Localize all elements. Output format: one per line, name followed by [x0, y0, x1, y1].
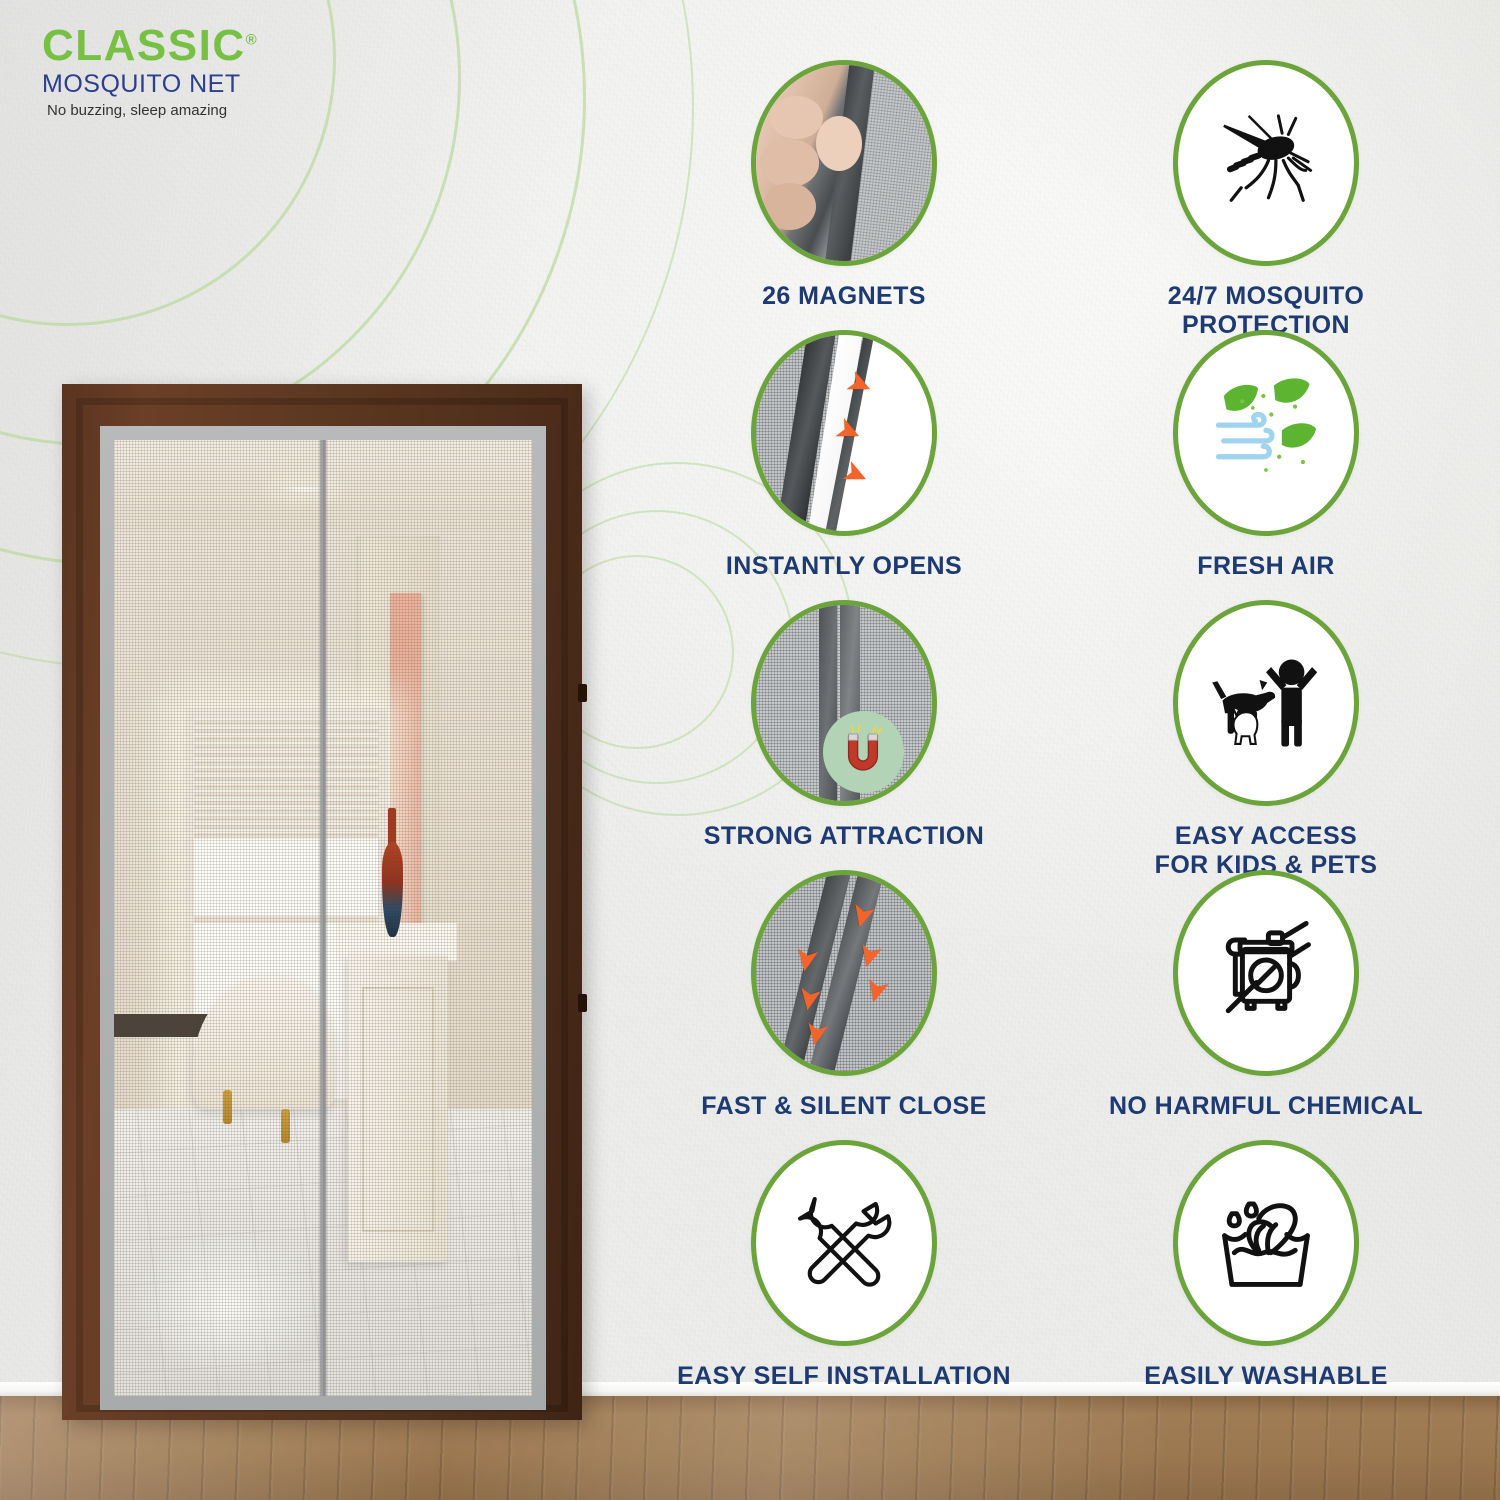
- fresh-air-glyph: [1200, 367, 1332, 499]
- feature-easy-self-installation[interactable]: EASY SELF INSTALLATION: [640, 1140, 1048, 1410]
- closing-net-photo-fill: ➤ ➤ ➤ ➤ ➤ ➤: [756, 875, 932, 1071]
- magnet-badge-circle: [823, 711, 904, 793]
- feature-grid: 26 MAGNETS: [640, 60, 1470, 1410]
- feature-fresh-air[interactable]: FRESH AIR: [1062, 330, 1470, 600]
- feature-label: STRONG ATTRACTION: [704, 822, 984, 851]
- no-chemical-glyph: [1207, 914, 1325, 1032]
- thumb: [816, 116, 862, 171]
- feature-label: NO HARMFUL CHEMICAL: [1109, 1092, 1423, 1121]
- wrench-and-screwdriver-icon: [751, 1140, 937, 1346]
- feature-strong-attraction[interactable]: STRONG ATTRACTION: [640, 600, 1048, 870]
- hand-wash-basin-icon: [1173, 1140, 1359, 1346]
- horseshoe-magnet-glyph: [836, 725, 890, 779]
- product-door-photo: [62, 384, 582, 1420]
- close-arrow-5: ➤: [794, 985, 826, 1013]
- close-arrow-6: ➤: [801, 1020, 833, 1048]
- brand-logo: CLASSIC® MOSQUITO NET No buzzing, sleep …: [42, 24, 372, 119]
- net-border-strip: [100, 426, 546, 1410]
- brand-tagline: No buzzing, sleep amazing: [47, 102, 372, 119]
- hand-wash-glyph: [1205, 1182, 1327, 1304]
- net-opening-arrows-photo: ➤ ➤ ➤: [751, 330, 937, 536]
- no-chemical-sprayer-icon: [1173, 870, 1359, 1076]
- net-photo-fill: ➤ ➤ ➤: [756, 335, 932, 531]
- registered-trademark-icon: ®: [246, 31, 259, 48]
- knuckle-3: [763, 183, 816, 230]
- child-and-dog-icon: [1173, 600, 1359, 806]
- door-hinge-top: [578, 684, 587, 702]
- net-center-seam: [320, 440, 327, 1396]
- net-rail-photo-fill: [756, 605, 932, 801]
- brand-product-line: MOSQUITO NET: [42, 70, 372, 99]
- feature-label: FRESH AIR: [1197, 552, 1334, 581]
- mosquito-icon: [1173, 60, 1359, 266]
- horseshoe-magnet-icon: [751, 600, 937, 806]
- leaves-and-wind-icon: [1173, 330, 1359, 536]
- knuckle-1: [770, 96, 823, 139]
- feature-easily-washable[interactable]: EASILY WASHABLE: [1062, 1140, 1470, 1410]
- mosquito-net-mesh: [114, 440, 532, 1396]
- hand-photo-fill: [756, 65, 932, 261]
- feature-label: 26 MAGNETS: [762, 282, 926, 311]
- feature-easy-access[interactable]: EASY ACCESS FOR KIDS & PETS: [1062, 600, 1470, 870]
- feature-label: EASY SELF INSTALLATION: [677, 1362, 1011, 1391]
- mosquito-glyph: [1204, 101, 1328, 225]
- hand-pinching-magnetic-strip-photo: [751, 60, 937, 266]
- feature-instantly-opens[interactable]: ➤ ➤ ➤ INSTANTLY OPENS: [640, 330, 1048, 600]
- kids-pets-glyph: [1202, 639, 1330, 767]
- door-hinge-bottom: [578, 994, 587, 1012]
- tools-glyph: [783, 1182, 905, 1304]
- close-arrow-3: ➤: [860, 976, 893, 1006]
- feature-mosquito-protection[interactable]: 24/7 MOSQUITO PROTECTION: [1062, 60, 1470, 330]
- feature-label: EASILY WASHABLE: [1144, 1362, 1388, 1391]
- brand-name: CLASSIC®: [42, 24, 258, 68]
- infographic-canvas: CLASSIC® MOSQUITO NET No buzzing, sleep …: [0, 0, 1500, 1500]
- net-closing-arrows-photo: ➤ ➤ ➤ ➤ ➤ ➤: [751, 870, 937, 1076]
- close-arrow-4: ➤: [791, 946, 823, 974]
- feature-label: INSTANTLY OPENS: [726, 552, 962, 581]
- feature-magnets[interactable]: 26 MAGNETS: [640, 60, 1048, 330]
- knuckle-2: [760, 139, 820, 186]
- feature-no-harmful-chemical[interactable]: NO HARMFUL CHEMICAL: [1062, 870, 1470, 1140]
- feature-label: FAST & SILENT CLOSE: [701, 1092, 986, 1121]
- feature-fast-silent-close[interactable]: ➤ ➤ ➤ ➤ ➤ ➤ FAST & SILENT CLOSE: [640, 870, 1048, 1140]
